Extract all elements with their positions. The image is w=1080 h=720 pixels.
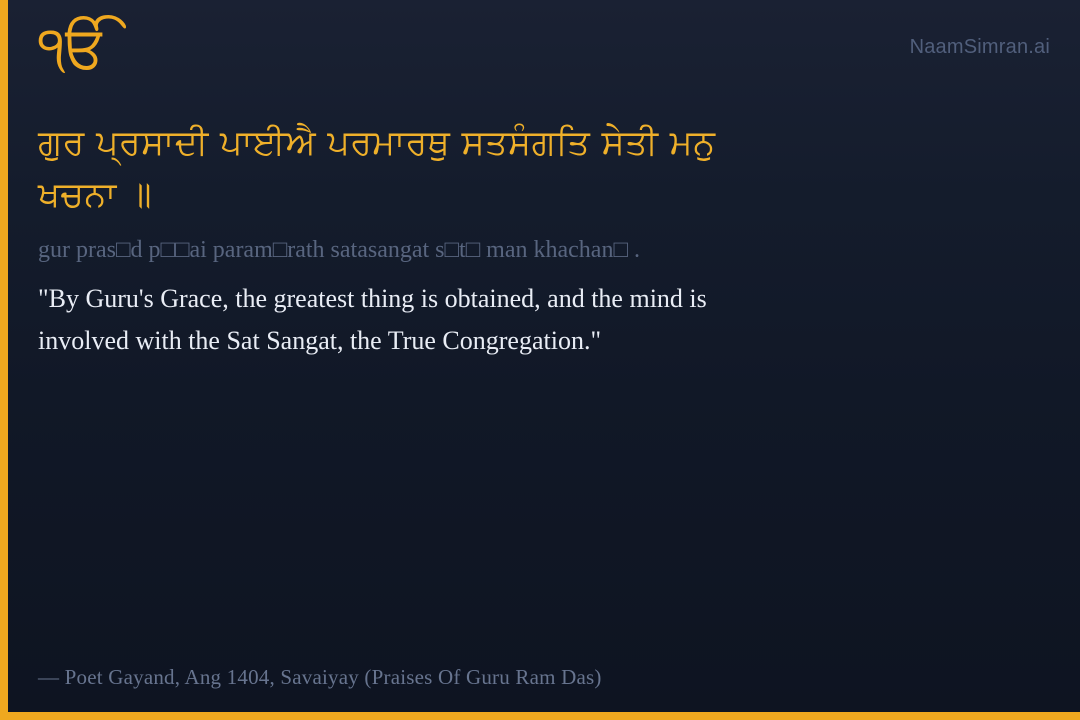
- gurmukhi-verse: ਗੁਰ ਪ੍ਰਸਾਦੀ ਪਾਈਐ ਪਰਮਾਰਥੁ ਸਤਸੰਗਤਿ ਸੇਤੀ ਮਨ…: [38, 118, 768, 222]
- brand-logo: NaamSimran.ai: [910, 36, 1050, 59]
- quote-card: ੴ NaamSimran.ai ਗੁਰ ਪ੍ਰਸਾਦੀ ਪਾਈਐ ਪਰਮਾਰਥੁ…: [0, 0, 1080, 720]
- quote-content: ਗੁਰ ਪ੍ਰਸਾਦੀ ਪਾਈਐ ਪਰਮਾਰਥੁ ਸਤਸੰਗਤਿ ਸੇਤੀ ਮਨ…: [38, 118, 1040, 362]
- english-translation: "By Guru's Grace, the greatest thing is …: [38, 278, 798, 362]
- ik-onkar-icon: ੴ: [38, 18, 109, 76]
- transliteration-line: gur pras□d p□□ai param□rath satasangat s…: [38, 234, 1040, 266]
- attribution-source: — Poet Gayand, Ang 1404, Savaiyay (Prais…: [38, 665, 602, 690]
